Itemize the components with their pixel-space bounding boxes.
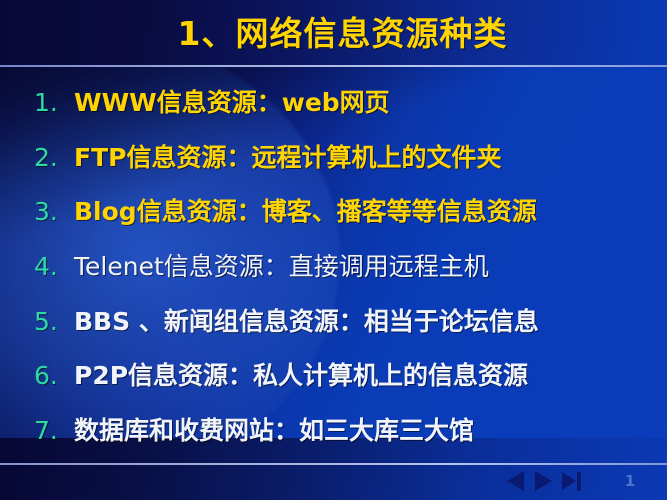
slide-canvas: 1、网络信息资源种类 1. WWW信息资源：web网页 2. FTP信息资源：远…	[0, 0, 667, 500]
list-item: 5. BBS 、新闻组信息资源：相当于论坛信息	[0, 302, 667, 338]
list-item-number: 4.	[34, 252, 74, 281]
list-item-text: WWW信息资源：web网页	[74, 83, 390, 119]
previous-slide-button[interactable]	[503, 470, 527, 492]
list-item-text: Blog信息资源：博客、播客等等信息资源	[74, 192, 537, 228]
list-item: 4. Telenet信息资源：直接调用远程主机	[0, 247, 667, 283]
list-item: 7. 数据库和收费网站：如三大库三大馆	[0, 411, 667, 447]
list-item-number: 7.	[34, 416, 74, 445]
list-item-number: 1.	[34, 88, 74, 117]
title-divider	[0, 65, 667, 67]
list-item-text: FTP信息资源：远程计算机上的文件夹	[74, 138, 501, 174]
list-item-number: 5.	[34, 307, 74, 336]
next-slide-button[interactable]	[531, 470, 555, 492]
list-item-text: 数据库和收费网站：如三大库三大馆	[74, 411, 474, 447]
list-item: 3. Blog信息资源：博客、播客等等信息资源	[0, 192, 667, 228]
list-item-text: P2P信息资源：私人计算机上的信息资源	[74, 356, 528, 392]
previous-triangle-icon	[507, 471, 524, 491]
list-item: 2. FTP信息资源：远程计算机上的文件夹	[0, 138, 667, 174]
content-list: 1. WWW信息资源：web网页 2. FTP信息资源：远程计算机上的文件夹 3…	[0, 74, 667, 456]
list-item-text: BBS 、新闻组信息资源：相当于论坛信息	[74, 302, 539, 338]
list-item-number: 2.	[34, 143, 74, 172]
list-item-number: 3.	[34, 197, 74, 226]
footer-divider	[0, 463, 667, 465]
title-area: 1、网络信息资源种类	[0, 0, 667, 66]
last-slide-button[interactable]	[559, 470, 583, 492]
page-number: 1	[618, 471, 642, 491]
list-item-text: Telenet信息资源：直接调用远程主机	[74, 247, 489, 283]
list-item-number: 6.	[34, 361, 74, 390]
last-slide-icon	[562, 472, 581, 491]
list-item: 6. P2P信息资源：私人计算机上的信息资源	[0, 356, 667, 392]
slide-navigation	[503, 468, 583, 494]
list-item: 1. WWW信息资源：web网页	[0, 83, 667, 119]
page-title: 1、网络信息资源种类	[160, 17, 508, 50]
next-triangle-icon	[535, 471, 552, 491]
